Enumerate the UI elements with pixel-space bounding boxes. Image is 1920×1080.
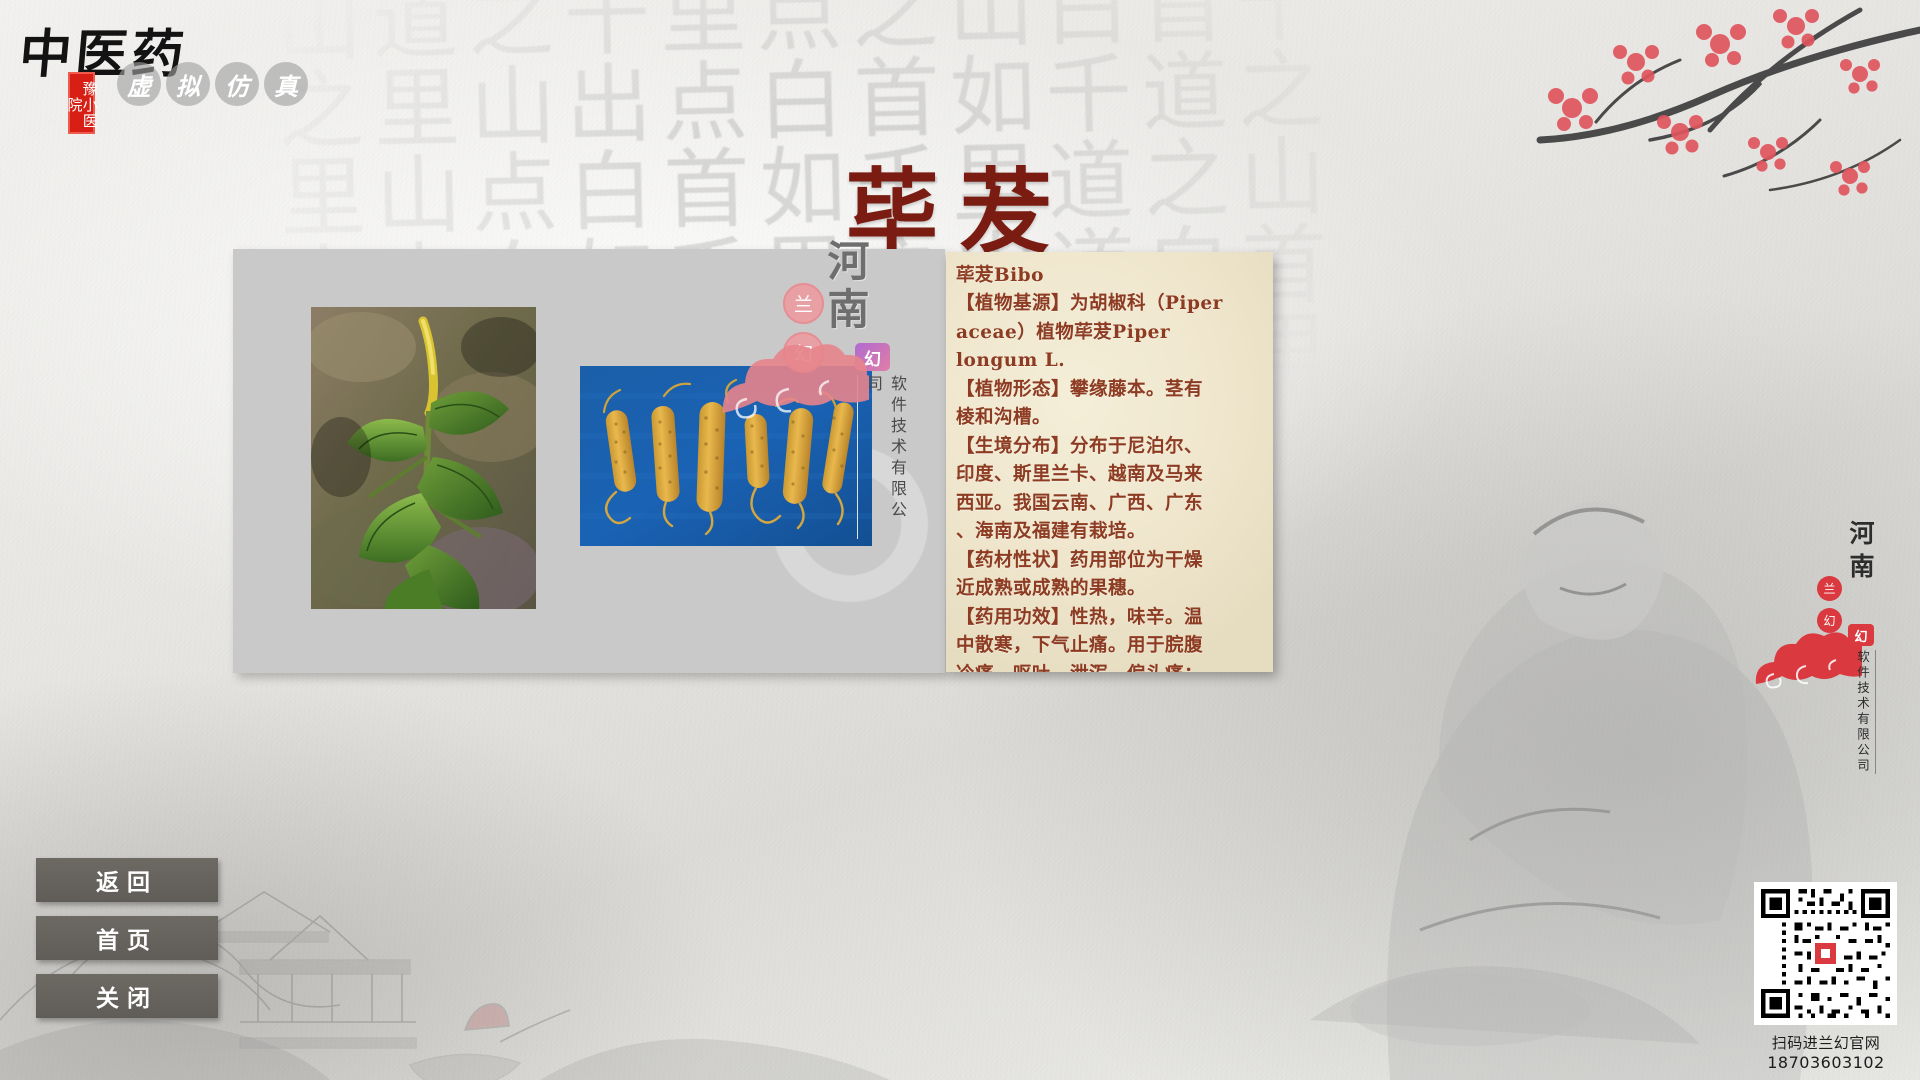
navigation-buttons: 返回 首页 关闭 [36,858,218,1032]
back-button[interactable]: 返回 [36,858,218,902]
desc-line: 荜茇Bibo [956,262,1265,290]
corner-watermark-suffix: 软件技术有限公司 [1853,650,1876,774]
corner-watermark: 河南 兰 幻 幻 软件技术有限公司 [1758,520,1878,780]
desc-line: 【生境分布】分布于尼泊尔、 [956,433,1265,461]
desc-line: aceae）植物荜茇Piper [956,319,1265,347]
desc-line: 【植物基源】为胡椒科（Piper [956,290,1265,318]
app-logo[interactable]: 中医药 豫小医院 虚 拟 仿 真 [12,10,282,120]
logo-bubble-ni: 拟 [166,62,210,106]
desc-line: 【药用功效】性热，味辛。温 [956,604,1265,632]
desc-line: 【药材性状】药用部位为干燥 [956,547,1265,575]
qr-code-block[interactable]: 扫码进兰幻官网 18703603102 [1746,882,1906,1072]
home-button[interactable]: 首页 [36,916,218,960]
logo-bubble-fang: 仿 [215,62,259,106]
logo-bubble-zhen: 真 [264,62,308,106]
herb-description-card[interactable]: 荜茇Bibo 【植物基源】为胡椒科（Piper aceae）植物荜茇Piper … [946,252,1273,672]
auspicious-cloud-icon-right [1754,616,1862,700]
corner-brand-icon: 幻 [1848,624,1874,646]
desc-line: 西亚。我国云南、广西、广东 [956,490,1265,518]
logo-bubble-xu: 虚 [117,62,161,106]
desc-line: 棱和沟槽。 [956,404,1265,432]
logo-subtitle: 虚 拟 仿 真 [117,62,308,106]
desc-line: 、海南及福建有栽培。 [956,518,1265,546]
close-button[interactable]: 关闭 [36,974,218,1018]
corner-watermark-dots: 兰 幻 [1817,576,1842,640]
watermark-dot-lan: 兰 [783,283,824,324]
desc-line: 冷痛，呕吐，泄泻，偏头痛； [956,661,1265,672]
desc-line: longum L. [956,347,1265,375]
qr-caption: 扫码进兰幻官网 [1746,1032,1906,1053]
media-panel: 河南 兰 幻 幻 软件技术有限公司 [233,249,945,673]
watermark-company-name: 河南 [815,239,876,335]
desc-line: 中散寒，下气止痛。用于脘腹 [956,632,1265,660]
desc-line: 印度、斯里兰卡、越南及马来 [956,461,1265,489]
corner-watermark-company: 河南 [1842,520,1878,586]
corner-dot-huan: 幻 [1817,608,1842,633]
corner-dot-lan: 兰 [1817,576,1842,601]
contact-phone: 18703603102 [1746,1053,1906,1072]
desc-line: 近成熟或成熟的果穗。 [956,575,1265,603]
plant-photo[interactable] [311,307,536,609]
logo-seal-stamp: 豫小医院 [68,72,95,134]
auspicious-cloud-icon [719,323,869,433]
desc-line: 【植物形态】攀缘藤本。茎有 [956,376,1265,404]
qr-code-image[interactable] [1754,882,1897,1025]
herb-description-text: 荜茇Bibo 【植物基源】为胡椒科（Piper aceae）植物荜茇Piper … [956,262,1265,672]
